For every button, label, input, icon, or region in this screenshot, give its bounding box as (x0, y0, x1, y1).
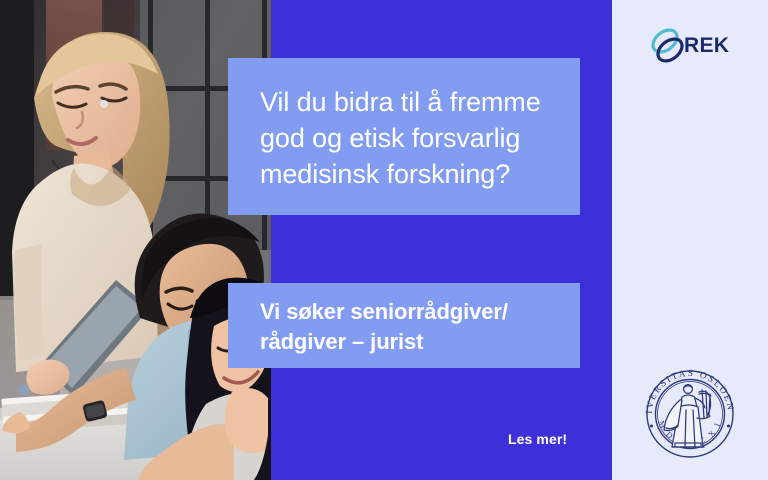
uio-seal: UNIVERSITAS OSLOENSIS M D C C C X I (636, 360, 744, 468)
job-title-box: Vi søker seniorrådgiver/ rådgiver – juri… (228, 283, 580, 368)
headline-line-3: medisinsk forskning? (260, 156, 550, 192)
read-more-link[interactable]: Les mer! (508, 430, 567, 448)
interlocking-rings-icon (648, 26, 688, 66)
job-title-line-2: rådgiver – jurist (260, 327, 558, 357)
headline-box: Vil du bidra til å fremme god og etisk f… (228, 58, 580, 215)
headline-line-1: Vil du bidra til å fremme (260, 84, 550, 120)
rek-logo[interactable]: REK (648, 26, 740, 68)
rek-wordmark: REK (684, 34, 729, 58)
job-title-line-1: Vi søker seniorrådgiver/ (260, 297, 558, 327)
recruitment-banner: REK UNIVERSITAS OSLOENSIS M D C C C X I (0, 0, 768, 480)
headline-line-2: god og etisk forsvarlig (260, 120, 550, 156)
